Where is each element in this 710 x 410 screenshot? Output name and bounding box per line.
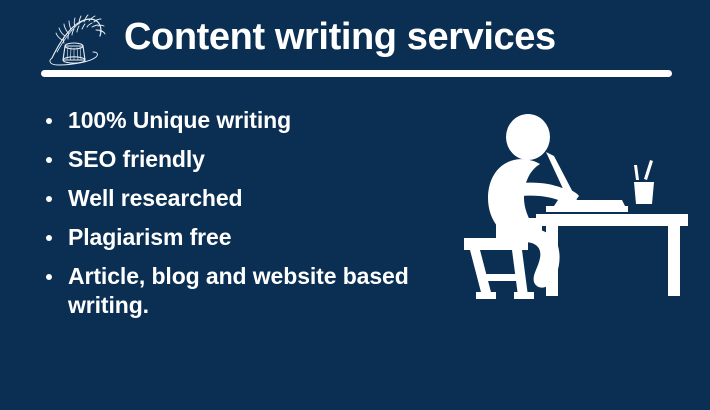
list-item: Plagiarism free	[40, 223, 440, 252]
writer-illustration-svg	[462, 110, 694, 310]
list-item: Article, blog and website based writing.	[40, 262, 440, 320]
stool-brace-shape	[479, 274, 523, 281]
bullet-icon	[46, 157, 52, 163]
bullet-icon	[46, 235, 52, 241]
paper-shape	[546, 206, 628, 212]
quill-pen-inkwell-icon	[38, 8, 110, 66]
title-divider	[41, 70, 672, 77]
desk-top-shape	[536, 214, 688, 226]
page-title: Content writing services	[110, 18, 556, 56]
bullet-icon	[46, 274, 52, 280]
stool-leg-right-shape	[512, 250, 528, 296]
list-item: 100% Unique writing	[40, 106, 440, 135]
pen-cup-shape	[634, 182, 654, 204]
desk-leg-left-shape	[546, 226, 558, 296]
cup-pen-1-shape	[634, 165, 639, 180]
list-item-label: Well researched	[68, 185, 243, 211]
banner-header: Content writing services	[0, 0, 710, 88]
content-writing-services-banner: Content writing services 100% Unique wri…	[0, 0, 710, 410]
stool-leg-left-shape	[470, 250, 492, 296]
stool-seat-shape	[464, 238, 528, 250]
list-item-label: 100% Unique writing	[68, 107, 291, 133]
list-item: Well researched	[40, 184, 440, 213]
banner-body: 100% Unique writing SEO friendly Well re…	[0, 88, 710, 410]
head-shape	[506, 114, 550, 160]
header-row: Content writing services	[38, 6, 556, 68]
bullet-icon	[46, 118, 52, 124]
person-writing-at-desk-icon	[462, 110, 694, 310]
bullet-icon	[46, 196, 52, 202]
paper-sheet-shape	[554, 200, 625, 206]
stool-foot-right-shape	[514, 292, 534, 299]
list-item-label: Article, blog and website based writing.	[68, 263, 409, 318]
stool-foot-left-shape	[476, 292, 496, 299]
desk-leg-right-shape	[668, 226, 680, 296]
list-item: SEO friendly	[40, 145, 440, 174]
list-item-label: Plagiarism free	[68, 224, 231, 250]
list-item-label: SEO friendly	[68, 146, 205, 172]
cup-pen-2-shape	[644, 160, 653, 180]
feature-list: 100% Unique writing SEO friendly Well re…	[40, 106, 440, 320]
